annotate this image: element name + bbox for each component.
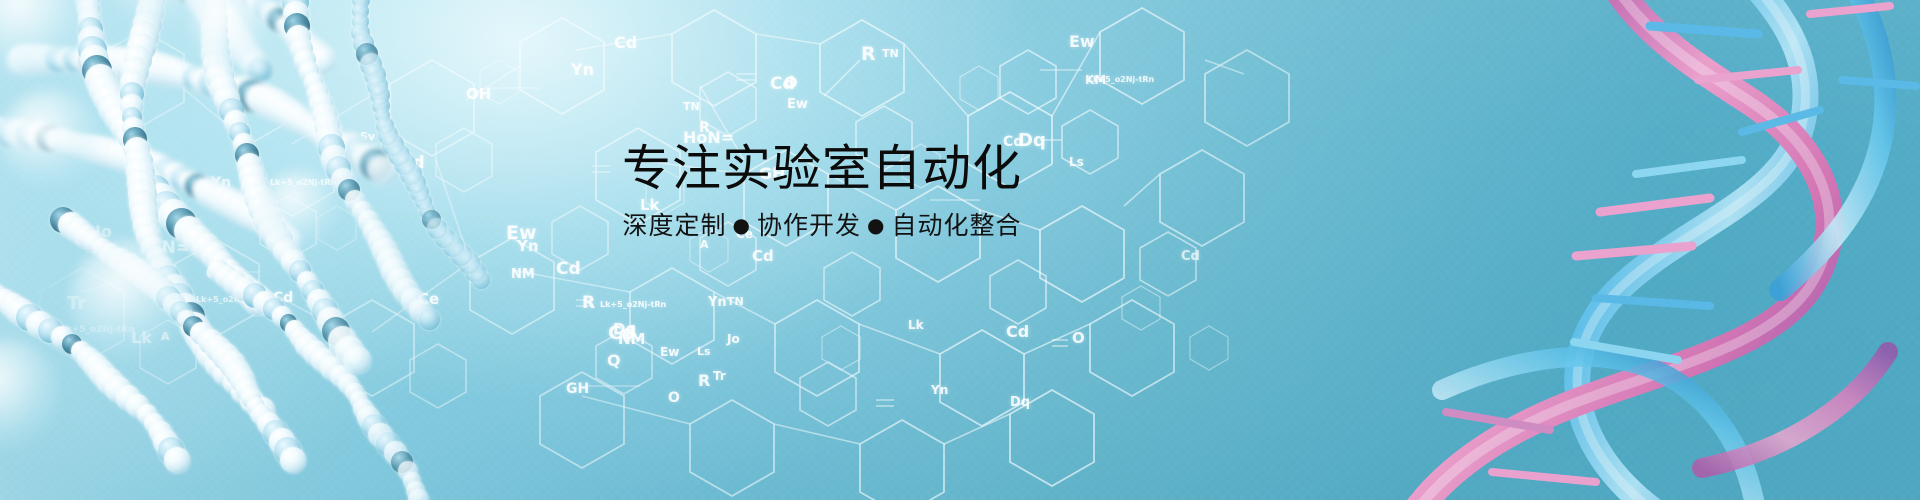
dna-double-helix-graphic — [1350, 0, 1920, 500]
bokeh-blob — [70, 240, 190, 360]
pearl-bead — [280, 447, 307, 474]
pearl-dna-helix-decoration — [0, 0, 600, 500]
subtitle-part-2: 协作开发 — [757, 211, 861, 240]
subtitle-separator-2: ● — [861, 213, 891, 237]
pearl-bead — [419, 309, 440, 330]
bokeh-blob — [0, 340, 60, 450]
subtitle-part-1: 深度定制 — [623, 211, 727, 240]
hero-banner: CdCdCdCdCdCdCdCdCdCdYnYnYnYnYnEwEwEwEwLk… — [0, 0, 1920, 500]
dna-helix-svg — [1350, 0, 1920, 500]
subtitle-part-3: 自动化整合 — [891, 211, 1021, 240]
pearl-bead — [408, 489, 429, 500]
pearl-bead — [164, 447, 191, 474]
banner-copy: 专注实验室自动化 深度定制●协作开发●自动化整合 — [607, 143, 1037, 241]
subtitle-separator-1: ● — [727, 213, 757, 237]
bokeh-blob — [260, 170, 340, 250]
bokeh-blob — [0, 90, 100, 190]
page-title: 专注实验室自动化 — [607, 143, 1037, 195]
banner-subtitle: 深度定制●协作开发●自动化整合 — [607, 211, 1037, 241]
pearl-bead — [472, 271, 490, 289]
